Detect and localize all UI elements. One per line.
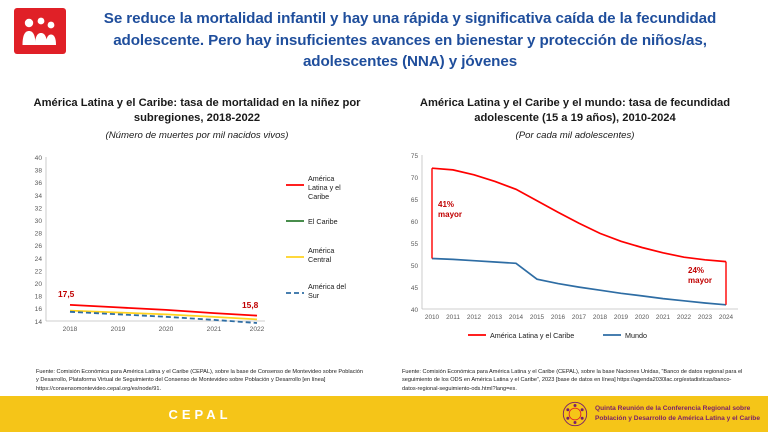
svg-text:50: 50 <box>411 263 419 270</box>
svg-text:45: 45 <box>411 285 419 292</box>
svg-text:26: 26 <box>35 243 43 250</box>
cepal-wordmark: CEPAL <box>168 407 231 422</box>
conference-text: Quinta Reunión de la Conferencia Regiona… <box>595 404 760 423</box>
svg-text:2016: 2016 <box>551 314 566 321</box>
svg-text:2018: 2018 <box>63 326 78 333</box>
svg-text:14: 14 <box>35 319 43 326</box>
left-label-2022: 15,8 <box>242 300 259 310</box>
footer-brand-block: CEPAL <box>0 396 400 432</box>
annotation-2024-value: 24% <box>688 266 704 275</box>
svg-text:24: 24 <box>35 256 43 263</box>
left-y-axis-ticks: 40 38 36 34 32 30 28 26 24 22 20 18 16 1… <box>35 155 43 326</box>
svg-text:32: 32 <box>35 206 43 213</box>
svg-text:28: 28 <box>35 231 43 238</box>
svg-text:34: 34 <box>35 193 43 200</box>
left-chart-subtitle: (Número de muertes por mil nacidos vivos… <box>10 130 384 141</box>
svg-text:2022: 2022 <box>250 326 265 333</box>
svg-text:América del: América del <box>308 282 346 291</box>
svg-text:2021: 2021 <box>207 326 222 333</box>
svg-text:2011: 2011 <box>446 314 460 321</box>
annotation-2010-label: mayor <box>438 210 462 219</box>
svg-text:38: 38 <box>35 168 43 175</box>
conference-emblem-icon <box>562 401 588 427</box>
svg-text:El Caribe: El Caribe <box>308 217 338 226</box>
svg-text:2022: 2022 <box>677 314 692 321</box>
page-title: Se reduce la mortalidad infantil y hay u… <box>80 8 740 73</box>
right-chart-plot: 75 70 65 60 55 50 45 40 2010 2011 2012 2… <box>388 145 762 345</box>
conference-line-1: Quinta Reunión de la Conferencia Regiona… <box>595 404 760 414</box>
left-chart-title: América Latina y el Caribe: tasa de mort… <box>10 96 384 126</box>
left-label-2018: 17,5 <box>58 289 75 299</box>
svg-text:2018: 2018 <box>593 314 608 321</box>
svg-text:2019: 2019 <box>614 314 629 321</box>
svg-text:Sur: Sur <box>308 291 320 300</box>
left-chart-plot: 40 38 36 34 32 30 28 26 24 22 20 18 16 1… <box>10 145 384 345</box>
conference-line-2: Población y Desarrollo de América Latina… <box>595 414 760 424</box>
footer-conference-block: Quinta Reunión de la Conferencia Regiona… <box>562 396 760 432</box>
svg-text:40: 40 <box>411 307 419 314</box>
svg-text:2015: 2015 <box>530 314 545 321</box>
svg-text:2014: 2014 <box>509 314 524 321</box>
left-x-axis-ticks: 2018 2019 2020 2021 2022 <box>63 326 265 333</box>
svg-text:55: 55 <box>411 241 419 248</box>
svg-text:2013: 2013 <box>488 314 503 321</box>
series-central-line <box>70 311 257 320</box>
left-chart-source: Fuente: Comisión Económica para América … <box>24 368 378 393</box>
svg-text:América: América <box>308 246 334 255</box>
svg-text:40: 40 <box>35 155 43 162</box>
left-chart-panel: América Latina y el Caribe: tasa de mort… <box>10 96 384 396</box>
svg-text:18: 18 <box>35 294 43 301</box>
right-chart-legend: América Latina y el Caribe Mundo <box>468 331 647 340</box>
svg-text:2023: 2023 <box>698 314 713 321</box>
svg-text:20: 20 <box>35 281 43 288</box>
svg-text:Central: Central <box>308 255 332 264</box>
svg-text:30: 30 <box>35 218 43 225</box>
svg-text:2010: 2010 <box>425 314 440 321</box>
right-y-axis-ticks: 75 70 65 60 55 50 45 40 <box>411 153 419 314</box>
page-header: Se reduce la mortalidad infantil y hay u… <box>0 0 768 88</box>
right-chart-title: América Latina y el Caribe y el mundo: t… <box>388 96 762 126</box>
right-chart-panel: América Latina y el Caribe y el mundo: t… <box>388 96 762 396</box>
svg-text:América: América <box>308 174 334 183</box>
svg-text:60: 60 <box>411 219 419 226</box>
svg-text:75: 75 <box>411 153 419 160</box>
svg-text:65: 65 <box>411 197 419 204</box>
annotation-2024-label: mayor <box>688 276 712 285</box>
svg-text:2024: 2024 <box>719 314 734 321</box>
right-x-axis-ticks: 2010 2011 2012 2013 2014 2015 2016 2017 … <box>425 314 734 321</box>
cepal-red-logo <box>14 8 66 54</box>
svg-text:36: 36 <box>35 180 43 187</box>
series-alc-fecundidad-line <box>432 168 726 261</box>
svg-text:Latina y el: Latina y el <box>308 183 341 192</box>
svg-text:2012: 2012 <box>467 314 482 321</box>
svg-text:Mundo: Mundo <box>625 331 647 340</box>
svg-text:Caribe: Caribe <box>308 192 329 201</box>
svg-text:2017: 2017 <box>572 314 587 321</box>
svg-text:América Latina y el Caribe: América Latina y el Caribe <box>490 331 574 340</box>
left-chart-legend: América Latina y el Caribe El Caribe Amé… <box>286 174 346 300</box>
right-chart-source: Fuente: Comisión Económica para América … <box>390 368 756 393</box>
svg-text:22: 22 <box>35 269 43 276</box>
svg-text:2021: 2021 <box>656 314 671 321</box>
annotation-2010-value: 41% <box>438 200 454 209</box>
right-chart-subtitle: (Por cada mil adolescentes) <box>388 130 762 141</box>
svg-text:2020: 2020 <box>159 326 174 333</box>
page-footer: CEPAL Quinta Reunión de la Conferencia R… <box>0 396 768 432</box>
svg-text:70: 70 <box>411 175 419 182</box>
svg-text:2019: 2019 <box>111 326 126 333</box>
svg-text:2020: 2020 <box>635 314 650 321</box>
svg-text:16: 16 <box>35 306 43 313</box>
series-mundo-line <box>432 259 726 305</box>
